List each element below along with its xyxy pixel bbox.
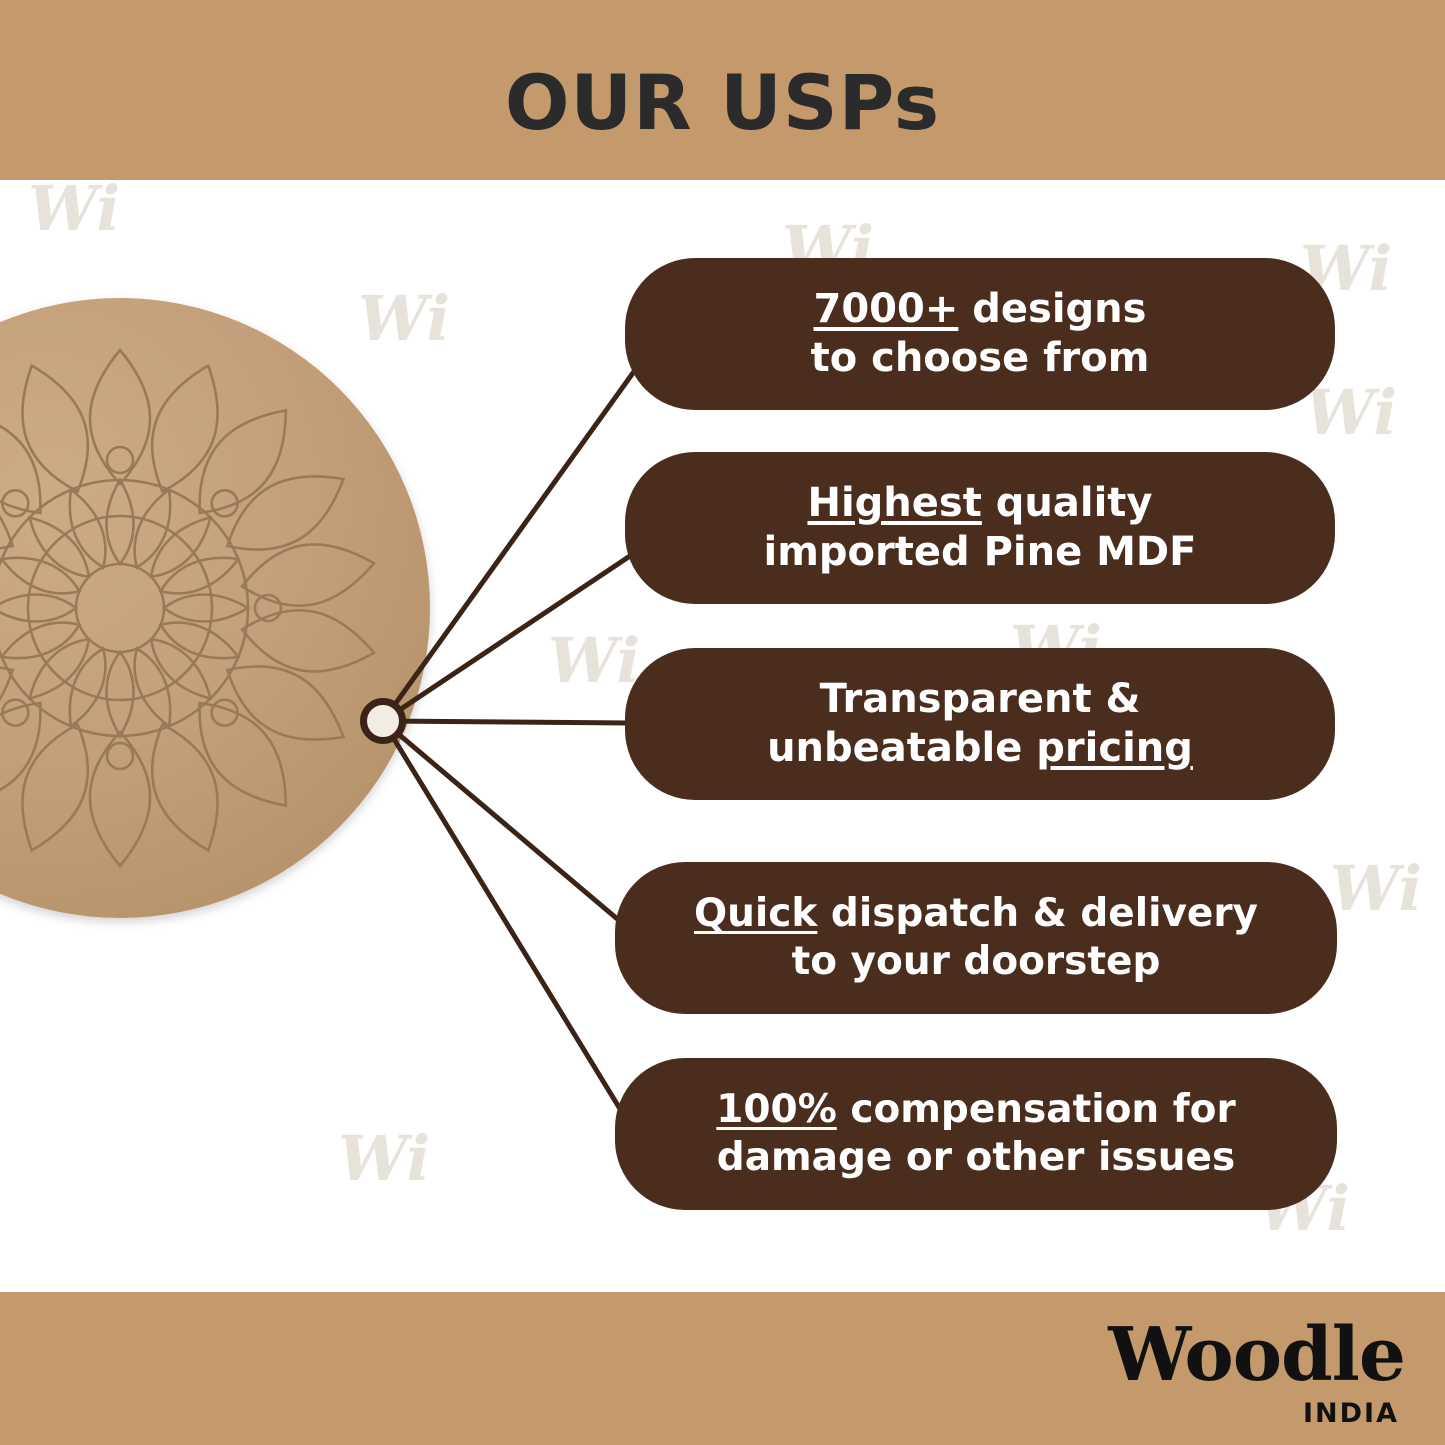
usp-material-quality[interactable]: Highest quality imported Pine MDF [625, 452, 1335, 604]
usp-1-text: 7000+ designs to choose from [811, 285, 1150, 383]
brand-subtitle: INDIA [1108, 1398, 1399, 1429]
usp-pricing[interactable]: Transparent & unbeatable pricing [625, 648, 1335, 800]
usp-4-text: Quick dispatch & delivery to your doorst… [694, 890, 1258, 985]
hub-node [360, 698, 406, 744]
usp-3-line2-pre: unbeatable [767, 725, 1036, 771]
usp-5-text: 100% compensation for damage or other is… [716, 1086, 1235, 1181]
brand-name: Woodle [1108, 1318, 1405, 1392]
usp-3-text: Transparent & unbeatable pricing [767, 675, 1193, 773]
usp-5-line1-highlight: 100% [716, 1087, 837, 1132]
usp-3-line1: Transparent & [820, 676, 1141, 722]
usp-1-line1-rest: designs [958, 286, 1146, 332]
usp-designs-count[interactable]: 7000+ designs to choose from [625, 258, 1335, 410]
usp-2-text: Highest quality imported Pine MDF [764, 479, 1197, 577]
usp-5-line1-rest: compensation for [837, 1087, 1236, 1132]
usp-1-line2: to choose from [811, 335, 1150, 381]
usp-4-line1-rest: dispatch & delivery [817, 891, 1258, 936]
usp-2-line1-rest: quality [982, 480, 1153, 526]
usp-5-line2: damage or other issues [717, 1135, 1235, 1180]
usp-2-line2: imported Pine MDF [764, 529, 1197, 575]
usp-4-line2: to your doorstep [792, 939, 1161, 984]
usp-4-line1-highlight: Quick [694, 891, 817, 936]
usp-1-line1-highlight: 7000+ [814, 286, 959, 332]
usp-dispatch-delivery[interactable]: Quick dispatch & delivery to your doorst… [615, 862, 1337, 1014]
usp-infographic: Wi Wi Wi Wi Wi Wi Wi Wi Wi Wi OUR USPs [0, 0, 1445, 1445]
brand-logo: Woodle INDIA [1108, 1318, 1405, 1429]
usp-compensation[interactable]: 100% compensation for damage or other is… [615, 1058, 1337, 1210]
usp-2-line1-highlight: Highest [807, 480, 981, 526]
usp-3-line2-highlight: pricing [1036, 725, 1193, 771]
